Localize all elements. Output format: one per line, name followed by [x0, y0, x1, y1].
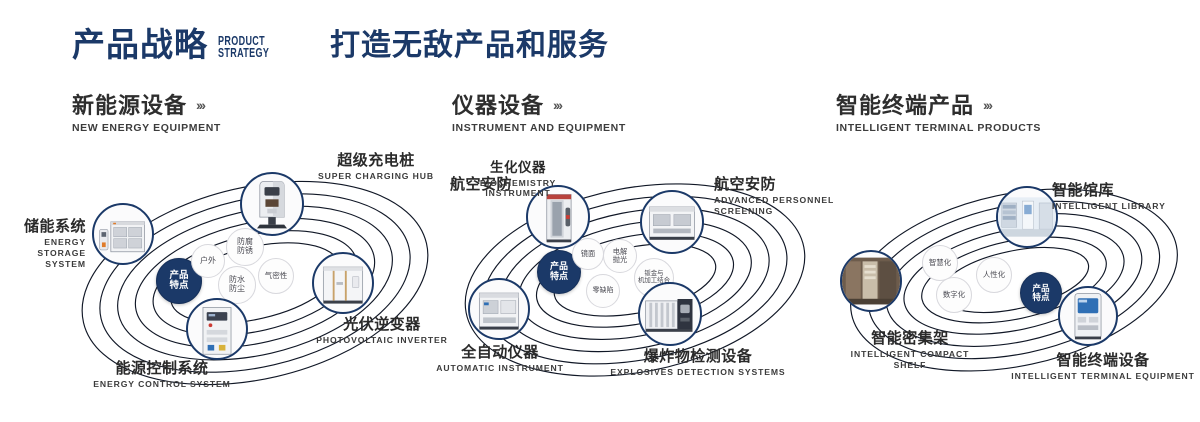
node-energy-control-system[interactable]	[186, 298, 248, 360]
feature-bubble-airtightness[interactable]: 气密性	[258, 258, 294, 294]
energy-control-system-icon	[188, 300, 246, 358]
section-title-cn-intelligent-terminal: 智能终端产品 ›››	[836, 94, 1041, 117]
feature-center-line2-instrument: 特点	[550, 272, 568, 282]
label-automatic-instrument: 全自动仪器 AUTOMATIC INSTRUMENT	[420, 344, 580, 374]
page-title-en: PRODUCT STRATEGY	[218, 35, 269, 59]
node-photovoltaic-inverter[interactable]	[312, 252, 374, 314]
section-title-cn-new-energy: 新能源设备 ›››	[72, 94, 221, 117]
feature-label-humanization: 人性化	[983, 270, 1005, 279]
section-title-text-instrument: 仪器设备	[452, 94, 544, 117]
label-cn-automatic-instrument: 全自动仪器	[420, 344, 580, 361]
label-en-automatic-instrument: AUTOMATIC INSTRUMENT	[420, 363, 580, 374]
feature-bubble-outdoor[interactable]: 户外	[191, 244, 225, 278]
automatic-instrument-icon	[470, 280, 528, 338]
page-title-cn: 产品战略	[72, 28, 208, 61]
super-charging-hub-icon	[242, 174, 302, 234]
energy-storage-system-icon	[94, 205, 152, 263]
explosives-detection-systems-icon	[640, 284, 700, 344]
page-subtitle: 打造无敌产品和服务	[330, 31, 609, 61]
label-cn-biochemistry-instrument: 生化仪器	[448, 160, 588, 176]
label-en1-biochemistry-instrument: BIOCHEMISTRY	[448, 178, 588, 189]
product-strategy-infographic: 产品战略 PRODUCT STRATEGY 打造无敌产品和服务 新能源设备 ››…	[0, 0, 1200, 422]
feature-bubble-zero-defect[interactable]: 零缺陷	[586, 274, 620, 308]
label-en-energy-control-system: ENERGY CONTROL SYSTEM	[62, 379, 262, 390]
section-title-en-instrument: INSTRUMENT AND EQUIPMENT	[452, 122, 626, 134]
label-cn-energy-storage-system: 储能系统	[0, 218, 86, 235]
section-title-text-intelligent-terminal: 智能终端产品	[836, 94, 974, 117]
label-energy-control-system: 能源控制系统 ENERGY CONTROL SYSTEM	[62, 360, 262, 390]
feature-center-line2-new-energy: 特点	[169, 281, 188, 291]
feature-label-waterproof-2: 防尘	[229, 285, 245, 294]
label-en-biochemistry-instrument: BIOCHEMISTRY INSTRUMENT	[448, 178, 588, 199]
node-advanced-personnel-screening[interactable]	[640, 190, 704, 254]
label-explosives-detection-systems: 爆炸物检测设备 EXPLOSIVES DETECTION SYSTEMS	[608, 348, 788, 378]
feature-label-outdoor: 户外	[200, 256, 216, 265]
photovoltaic-inverter-icon	[314, 254, 372, 312]
chevron-right-icon-intelligent-terminal: ›››	[983, 98, 991, 113]
section-header-instrument: 仪器设备 ››› INSTRUMENT AND EQUIPMENT	[452, 94, 626, 134]
feature-center-line2-intelligent-terminal: 特点	[1032, 293, 1049, 302]
label-en2-biochemistry-instrument: INSTRUMENT	[448, 188, 588, 199]
label-en-intelligent-terminal-equipment: INTELLIGENT TERMINAL EQUIPMENT	[1008, 371, 1198, 382]
feature-bubble-intelligentization[interactable]: 智慧化	[922, 245, 958, 281]
node-energy-storage-system[interactable]	[92, 203, 154, 265]
label-cn-intelligent-terminal-equipment: 智能终端设备	[1008, 352, 1198, 369]
node-intelligent-compact-shelf[interactable]	[840, 250, 902, 312]
label-en2-intelligent-compact-shelf: SHELF	[810, 360, 1010, 371]
label-en-intelligent-compact-shelf: INTELLIGENT COMPACT SHELF	[810, 349, 1010, 370]
chevron-right-icon-new-energy: ›››	[196, 98, 204, 113]
feature-label-mirror-finish: 镜面	[581, 249, 595, 258]
chevron-right-icon-instrument: ›››	[553, 98, 561, 113]
label-intelligent-library: 智能馆库 INTELLIGENT LIBRARY	[1052, 182, 1192, 212]
label-en2-energy-storage-system: SYSTEM	[0, 259, 86, 270]
feature-label-zero-defect: 零缺陷	[593, 287, 614, 294]
label-biochemistry-instrument: 生化仪器 BIOCHEMISTRY INSTRUMENT	[448, 160, 588, 199]
page-title-en-line2: STRATEGY	[218, 47, 269, 59]
feature-bubble-electropolishing[interactable]: 电解 抛光	[603, 239, 637, 273]
node-intelligent-library[interactable]	[996, 186, 1058, 248]
section-title-en-intelligent-terminal: INTELLIGENT TERMINAL PRODUCTS	[836, 122, 1041, 134]
feature-label-airtightness: 气密性	[265, 271, 288, 280]
label-en1-energy-storage-system: ENERGY STORAGE	[0, 237, 86, 258]
label-intelligent-terminal-equipment: 智能终端设备 INTELLIGENT TERMINAL EQUIPMENT	[1008, 352, 1198, 382]
feature-bubble-humanization[interactable]: 人性化	[976, 257, 1012, 293]
feature-bubble-center-intelligent-terminal[interactable]: 产品 特点	[1020, 272, 1062, 314]
label-en-energy-storage-system: ENERGY STORAGE SYSTEM	[0, 237, 86, 269]
section-header-new-energy: 新能源设备 ››› NEW ENERGY EQUIPMENT	[72, 94, 221, 134]
section-title-text-new-energy: 新能源设备	[72, 94, 187, 117]
page-title: 产品战略 PRODUCT STRATEGY	[72, 28, 289, 61]
section-title-en-new-energy: NEW ENERGY EQUIPMENT	[72, 122, 221, 134]
feature-bubble-digitalization[interactable]: 数字化	[936, 277, 972, 313]
label-cn-intelligent-library: 智能馆库	[1052, 182, 1192, 199]
intelligent-terminal-equipment-icon	[1060, 288, 1116, 344]
node-explosives-detection-systems[interactable]	[638, 282, 702, 346]
label-cn-energy-control-system: 能源控制系统	[62, 360, 262, 377]
advanced-personnel-screening-icon	[642, 192, 702, 252]
node-intelligent-terminal-equipment[interactable]	[1058, 286, 1118, 346]
label-cn-super-charging-hub: 超级充电桩	[286, 152, 466, 169]
feature-label-intelligentization: 智慧化	[929, 258, 951, 267]
label-intelligent-compact-shelf: 智能密集架 INTELLIGENT COMPACT SHELF	[810, 330, 1010, 371]
label-en-explosives-detection-systems: EXPLOSIVES DETECTION SYSTEMS	[608, 367, 788, 378]
intelligent-compact-shelf-icon	[842, 252, 900, 310]
label-cn-explosives-detection-systems: 爆炸物检测设备	[608, 348, 788, 365]
label-en1-intelligent-compact-shelf: INTELLIGENT COMPACT	[810, 349, 1010, 360]
label-energy-storage-system: 储能系统 ENERGY STORAGE SYSTEM	[0, 218, 86, 269]
intelligent-library-icon	[998, 188, 1056, 246]
label-en-intelligent-library: INTELLIGENT LIBRARY	[1052, 201, 1192, 212]
feature-label-digitalization: 数字化	[943, 290, 965, 299]
section-header-intelligent-terminal: 智能终端产品 ››› INTELLIGENT TERMINAL PRODUCTS	[836, 94, 1041, 134]
label-cn-intelligent-compact-shelf: 智能密集架	[810, 330, 1010, 347]
section-title-cn-instrument: 仪器设备 ›››	[452, 94, 626, 117]
feature-label-electropolishing-2: 抛光	[613, 256, 627, 264]
node-automatic-instrument[interactable]	[468, 278, 530, 340]
feature-label-anticorrosion-2: 防锈	[237, 247, 253, 256]
